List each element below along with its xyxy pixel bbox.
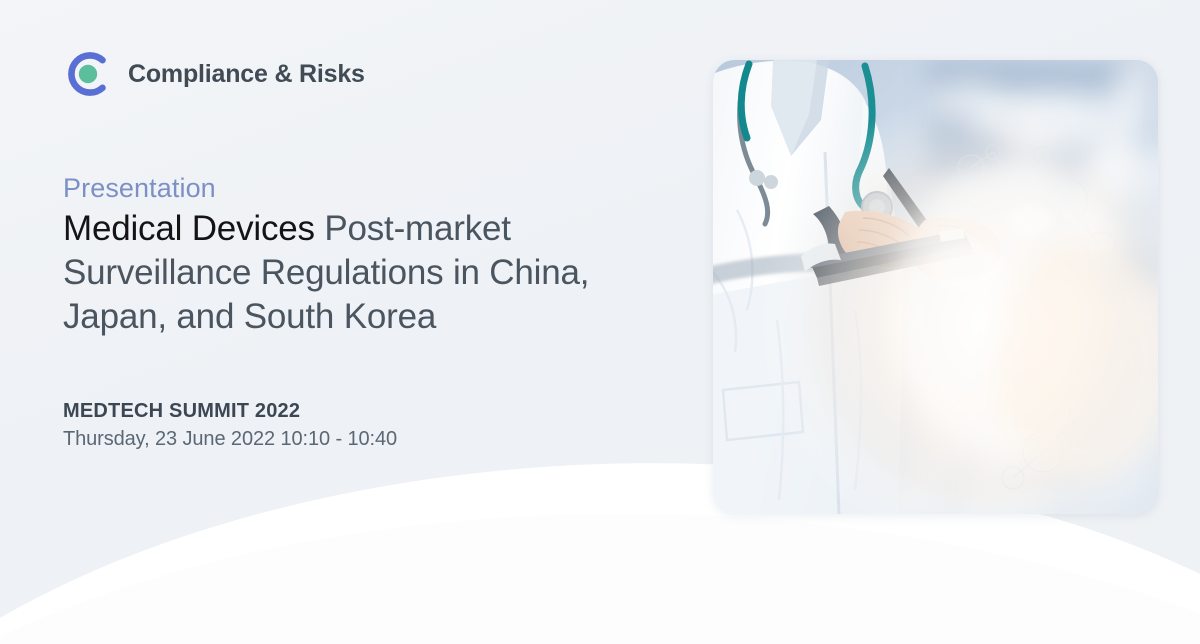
brand-logo[interactable]: Compliance & Risks (62, 48, 365, 100)
background-sweep-shape-secondary (0, 494, 1200, 644)
doctor-writing-on-clipboard-photo (713, 60, 1158, 514)
page-title-lead: Medical Devices (63, 209, 315, 248)
event-datetime: Thursday, 23 June 2022 10:10 - 10:40 (63, 428, 397, 451)
hero-image-card (713, 60, 1158, 514)
brand-name: Compliance & Risks (128, 60, 365, 89)
compliance-risks-c-mark-icon (62, 48, 114, 100)
presentation-banner: Compliance & Risks Presentation Medical … (0, 0, 1200, 644)
event-name: MEDTECH SUMMIT 2022 (63, 400, 397, 423)
event-details: MEDTECH SUMMIT 2022 Thursday, 23 June 20… (63, 400, 397, 451)
eyebrow-label: Presentation (63, 173, 216, 204)
page-title: Medical Devices Post-market Surveillance… (63, 207, 673, 339)
